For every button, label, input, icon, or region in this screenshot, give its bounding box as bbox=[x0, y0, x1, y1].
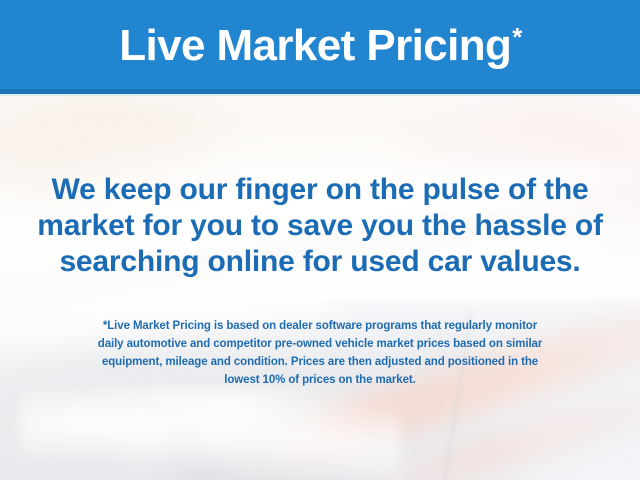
headline: We keep our finger on the pulse of the m… bbox=[0, 172, 640, 280]
footnote-asterisk: * bbox=[512, 22, 522, 52]
header-banner: Live Market Pricing* bbox=[0, 0, 640, 89]
page-title-text: Live Market Pricing bbox=[119, 21, 511, 70]
disclaimer-text: *Live Market Pricing is based on dealer … bbox=[0, 317, 640, 389]
disclaimer-line: daily automotive and competitor pre-owne… bbox=[26, 335, 614, 353]
page-title: Live Market Pricing* bbox=[119, 24, 521, 68]
headline-line: searching online for used car values. bbox=[22, 244, 618, 280]
disclaimer-line: lowest 10% of prices on the market. bbox=[26, 371, 614, 389]
headline-line: We keep our finger on the pulse of the bbox=[22, 172, 618, 208]
marketing-slide: Live Market Pricing* We keep our finger … bbox=[0, 0, 640, 480]
banner-hairline bbox=[0, 94, 640, 96]
disclaimer-line: equipment, mileage and condition. Prices… bbox=[26, 353, 614, 371]
disclaimer-line: *Live Market Pricing is based on dealer … bbox=[26, 317, 614, 335]
headline-line: market for you to save you the hassle of bbox=[22, 208, 618, 244]
